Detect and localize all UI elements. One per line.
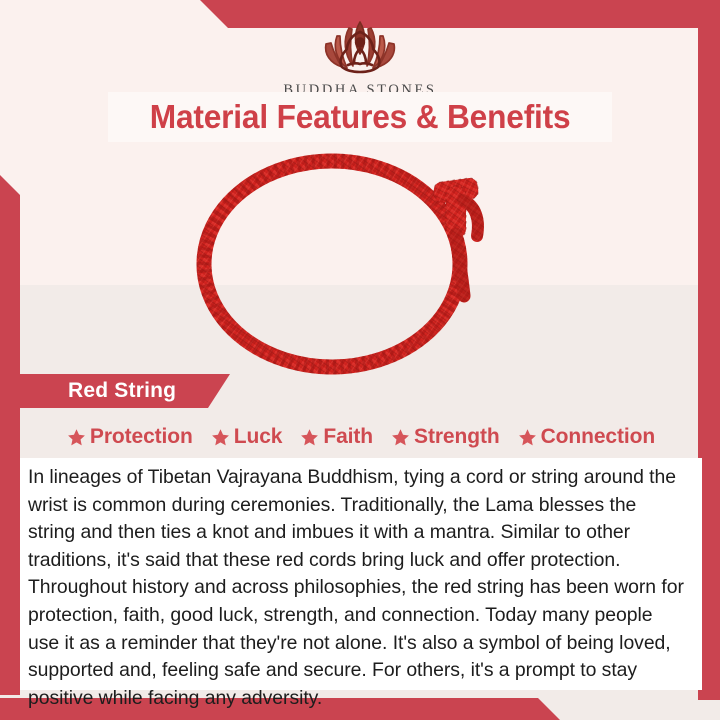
lotus-meditation-figure-icon (290, 18, 430, 80)
description-card: In lineages of Tibetan Vajrayana Buddhis… (20, 458, 702, 690)
feature-label: Strength (414, 425, 500, 449)
feature-item-luck: Luck (204, 425, 290, 449)
feature-item-faith: Faith (293, 425, 380, 449)
star-icon (211, 428, 230, 447)
product-name-ribbon: Red String (20, 374, 230, 408)
star-icon (67, 428, 86, 447)
feature-item-strength: Strength (384, 425, 507, 449)
decorative-left-bar (0, 175, 20, 695)
product-image (160, 150, 560, 375)
infographic-poster: BUDDHA STONES Material Features & Benefi… (0, 0, 720, 720)
brand-logo: BUDDHA STONES (0, 18, 720, 99)
feature-item-connection: Connection (511, 425, 663, 449)
feature-label: Protection (90, 425, 193, 449)
star-icon (518, 428, 537, 447)
feature-list: Protection Luck Faith Strength Connectio (20, 420, 702, 454)
feature-label: Luck (234, 425, 283, 449)
description-text: In lineages of Tibetan Vajrayana Buddhis… (28, 464, 688, 712)
product-name-label: Red String (68, 379, 176, 403)
page-title: Material Features & Benefits (150, 98, 571, 136)
feature-item-protection: Protection (60, 425, 200, 449)
feature-label: Faith (323, 425, 373, 449)
star-icon (391, 428, 410, 447)
headline-banner: Material Features & Benefits (108, 92, 612, 142)
red-string-bracelet-image (160, 150, 560, 375)
feature-label: Connection (541, 425, 656, 449)
star-icon (300, 428, 319, 447)
